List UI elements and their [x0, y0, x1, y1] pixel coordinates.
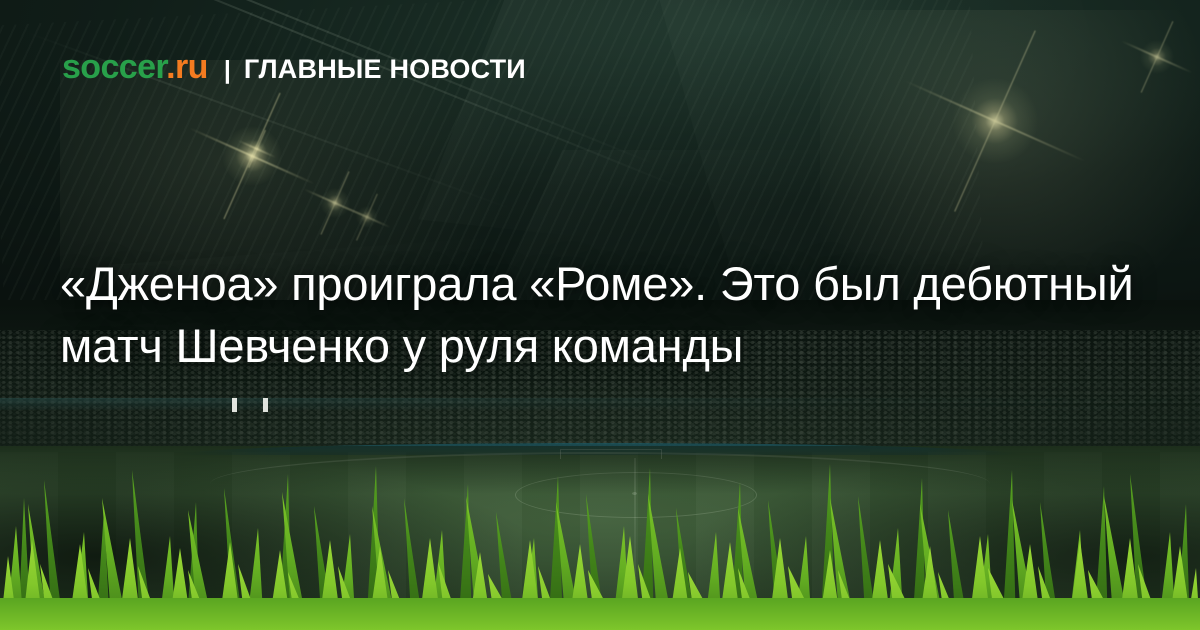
brand-header: soccer.ru | ГЛАВНЫЕ НОВОСТИ — [62, 50, 526, 84]
logo-name-text: soccer — [62, 48, 166, 86]
rail-light-gap — [232, 398, 237, 412]
grass-blades-illustration — [0, 440, 1200, 630]
news-share-card: soccer.ru | ГЛАВНЫЕ НОВОСТИ «Дженоа» про… — [0, 0, 1200, 630]
logo-tld-text: .ru — [166, 48, 208, 86]
grass-base — [0, 598, 1200, 630]
floodlight-flare-icon — [248, 140, 266, 158]
rail-light-gap — [263, 398, 268, 412]
floodlight-flare-icon — [1140, 40, 1174, 74]
header-kicker: ГЛАВНЫЕ НОВОСТИ — [244, 56, 526, 83]
header-separator: | — [224, 58, 231, 83]
article-headline: «Дженоа» проиграла «Роме». Это был дебют… — [60, 253, 1150, 376]
floodlight-flare-icon — [952, 78, 1038, 164]
soccer-ru-logo[interactable]: soccer.ru — [62, 50, 208, 84]
upper-tier-rail — [0, 398, 1200, 410]
floodlight-flare-icon — [356, 206, 378, 228]
floodlight-flare-icon — [320, 188, 350, 218]
foreground-grass — [0, 440, 1200, 630]
